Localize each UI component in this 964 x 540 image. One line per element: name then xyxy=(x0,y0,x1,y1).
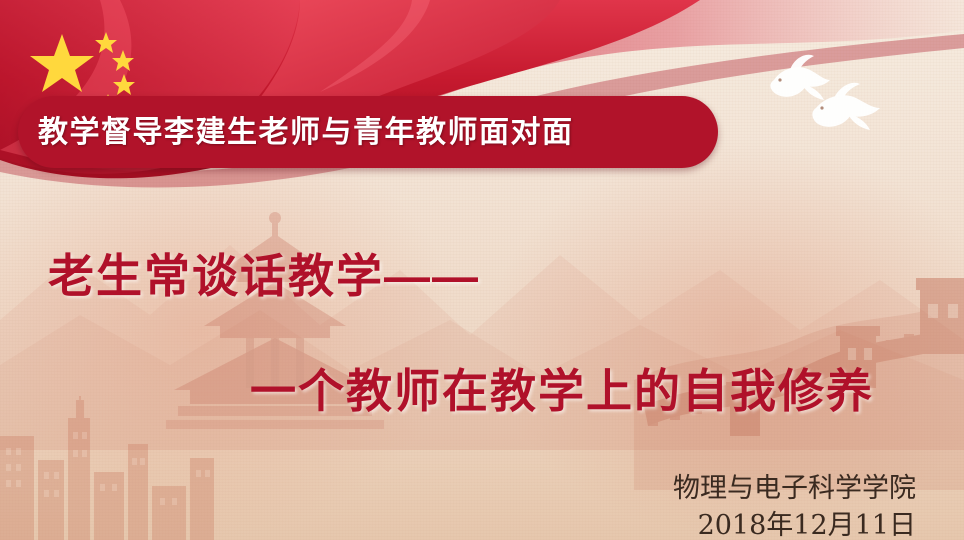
headline-line-2: 一个教师在教学上的自我修养 xyxy=(250,355,874,421)
peace-dove-icon xyxy=(756,50,886,140)
footer-date: 2018年12月11日 xyxy=(698,503,916,540)
headline-line-1: 老生常谈话教学—— xyxy=(48,240,480,306)
presentation-slide: 教学督导李建生老师与青年教师面对面 老生常谈话教学—— 一个教师在教学上的自我修… xyxy=(0,0,964,540)
footer-organization: 物理与电子科学学院 xyxy=(673,466,916,505)
banner-title-text: 教学督导李建生老师与青年教师面对面 xyxy=(38,110,708,156)
